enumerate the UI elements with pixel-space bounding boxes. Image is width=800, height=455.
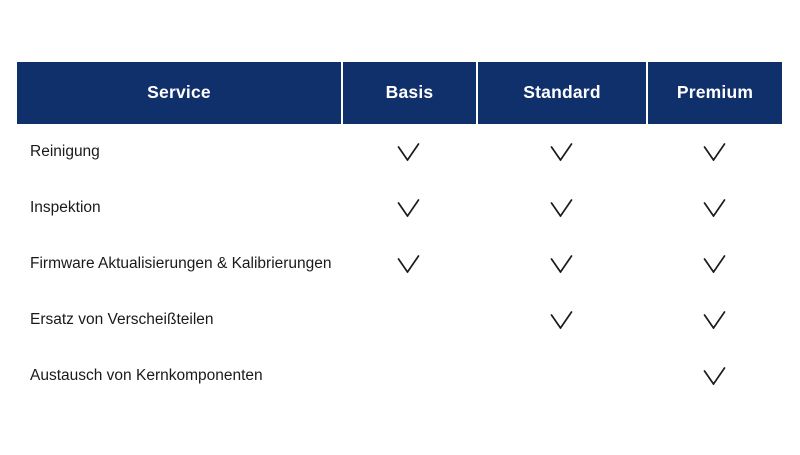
table-header-row: Service Basis Standard Premium <box>17 62 782 124</box>
table-body: Reinigung Inspektion <box>17 124 782 404</box>
cell-kernkomponenten-basis <box>341 348 476 404</box>
check-icon <box>701 363 728 390</box>
cell-reinigung-premium <box>646 124 782 180</box>
column-header-basis: Basis <box>343 62 476 124</box>
check-icon <box>395 251 422 278</box>
table-row: Reinigung <box>17 124 782 180</box>
cell-firmware-standard <box>476 236 646 292</box>
service-comparison-table: Service Basis Standard Premium Reinigung <box>0 0 800 455</box>
check-icon <box>701 307 728 334</box>
cell-verschleissteile-standard <box>476 292 646 348</box>
check-icon <box>548 195 575 222</box>
column-header-premium: Premium <box>648 62 782 124</box>
cell-inspektion-premium <box>646 180 782 236</box>
cell-reinigung-basis <box>341 124 476 180</box>
cell-firmware-premium <box>646 236 782 292</box>
check-icon <box>701 195 728 222</box>
cell-firmware-basis <box>341 236 476 292</box>
column-header-basis-label: Basis <box>386 84 434 102</box>
service-name-firmware: Firmware Aktualisierungen & Kalibrierung… <box>17 253 341 275</box>
column-header-service: Service <box>17 62 341 124</box>
check-icon <box>548 307 575 334</box>
cell-inspektion-standard <box>476 180 646 236</box>
check-icon <box>701 139 728 166</box>
check-icon <box>701 251 728 278</box>
cell-inspektion-basis <box>341 180 476 236</box>
column-header-standard: Standard <box>478 62 646 124</box>
table-row: Inspektion <box>17 180 782 236</box>
service-name-verschleissteile: Ersatz von Verscheißteilen <box>17 309 341 331</box>
cell-reinigung-standard <box>476 124 646 180</box>
check-icon <box>548 251 575 278</box>
cell-verschleissteile-premium <box>646 292 782 348</box>
cell-kernkomponenten-premium <box>646 348 782 404</box>
service-name-reinigung: Reinigung <box>17 141 341 163</box>
empty-cell <box>395 363 422 390</box>
cell-kernkomponenten-standard <box>476 348 646 404</box>
check-icon <box>548 139 575 166</box>
service-name-inspektion: Inspektion <box>17 197 341 219</box>
empty-cell <box>395 307 422 334</box>
check-icon <box>395 139 422 166</box>
column-header-premium-label: Premium <box>677 84 753 102</box>
table-row: Austausch von Kernkomponenten <box>17 348 782 404</box>
service-name-kernkomponenten: Austausch von Kernkomponenten <box>17 365 341 387</box>
table-row: Ersatz von Verscheißteilen <box>17 292 782 348</box>
column-header-standard-label: Standard <box>523 84 600 102</box>
column-header-service-label: Service <box>147 84 211 102</box>
check-icon <box>395 195 422 222</box>
cell-verschleissteile-basis <box>341 292 476 348</box>
empty-cell <box>548 363 575 390</box>
table-row: Firmware Aktualisierungen & Kalibrierung… <box>17 236 782 292</box>
